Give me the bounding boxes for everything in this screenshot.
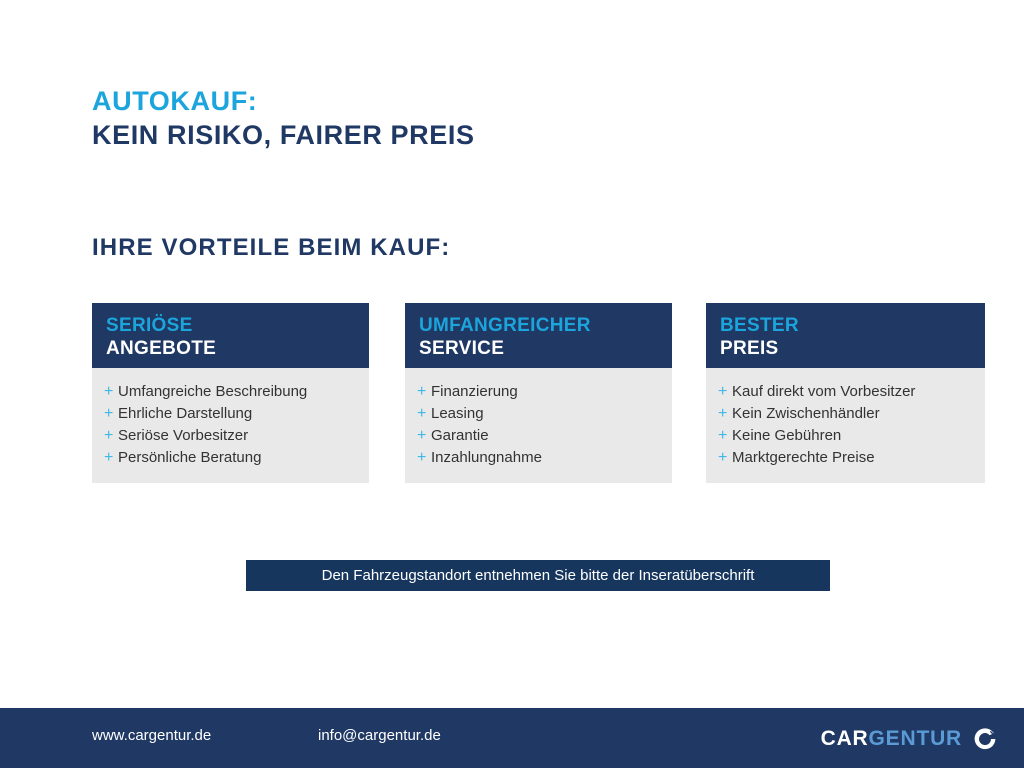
- feature-item: + Persönliche Beratung: [104, 447, 369, 469]
- cargentur-c-mark-icon: [972, 726, 998, 752]
- benefit-card-body: + Kauf direkt vom Vorbesitzer + Kein Zwi…: [706, 368, 985, 483]
- feature-label: Garantie: [431, 425, 489, 447]
- location-notice-banner: Den Fahrzeugstandort entnehmen Sie bitte…: [246, 560, 830, 591]
- plus-icon: +: [417, 381, 431, 403]
- logo-text-primary: CAR: [821, 727, 869, 751]
- feature-item: + Kauf direkt vom Vorbesitzer: [718, 381, 985, 403]
- feature-label: Kauf direkt vom Vorbesitzer: [732, 381, 915, 403]
- feature-item: + Inzahlungnahme: [417, 447, 672, 469]
- plus-icon: +: [718, 381, 732, 403]
- page-title-line-1: AUTOKAUF:: [92, 84, 475, 118]
- feature-label: Kein Zwischenhändler: [732, 403, 880, 425]
- feature-label: Leasing: [431, 403, 484, 425]
- benefit-card-umfangreicher-service: UMFANGREICHER SERVICE + Finanzierung + L…: [405, 303, 672, 483]
- feature-label: Persönliche Beratung: [118, 447, 261, 469]
- feature-item: + Leasing: [417, 403, 672, 425]
- benefit-card-header: BESTER PREIS: [706, 303, 985, 368]
- benefit-card-serioese-angebote: SERIÖSE ANGEBOTE + Umfangreiche Beschrei…: [92, 303, 369, 483]
- page-title: AUTOKAUF: KEIN RISIKO, FAIRER PREIS: [92, 84, 475, 152]
- feature-item: + Ehrliche Darstellung: [104, 403, 369, 425]
- plus-icon: +: [417, 447, 431, 469]
- plus-icon: +: [718, 425, 732, 447]
- benefits-card-group: SERIÖSE ANGEBOTE + Umfangreiche Beschrei…: [92, 303, 985, 478]
- feature-label: Ehrliche Darstellung: [118, 403, 252, 425]
- feature-label: Keine Gebühren: [732, 425, 841, 447]
- feature-item: + Finanzierung: [417, 381, 672, 403]
- feature-label: Seriöse Vorbesitzer: [118, 425, 248, 447]
- feature-item: + Kein Zwischenhändler: [718, 403, 985, 425]
- benefit-card-header-bottom: PREIS: [720, 337, 985, 360]
- feature-item: + Umfangreiche Beschreibung: [104, 381, 369, 403]
- cargentur-logo: CARGENTUR: [821, 726, 998, 752]
- plus-icon: +: [104, 403, 118, 425]
- feature-item: + Garantie: [417, 425, 672, 447]
- plus-icon: +: [417, 425, 431, 447]
- section-heading: IHRE VORTEILE BEIM KAUF:: [92, 234, 450, 262]
- plus-icon: +: [718, 447, 732, 469]
- feature-label: Inzahlungnahme: [431, 447, 542, 469]
- benefit-card-header-top: UMFANGREICHER: [419, 314, 672, 337]
- benefit-card-header: UMFANGREICHER SERVICE: [405, 303, 672, 368]
- slide-canvas: AUTOKAUF: KEIN RISIKO, FAIRER PREIS IHRE…: [0, 0, 1024, 768]
- footer-bar: www.cargentur.de info@cargentur.de CARGE…: [0, 708, 1024, 768]
- feature-item: + Marktgerechte Preise: [718, 447, 985, 469]
- benefit-card-header-top: SERIÖSE: [106, 314, 369, 337]
- feature-label: Finanzierung: [431, 381, 518, 403]
- page-title-line-2: KEIN RISIKO, FAIRER PREIS: [92, 118, 475, 152]
- feature-label: Marktgerechte Preise: [732, 447, 875, 469]
- plus-icon: +: [104, 381, 118, 403]
- benefit-card-body: + Finanzierung + Leasing + Garantie + In…: [405, 368, 672, 483]
- plus-icon: +: [417, 403, 431, 425]
- plus-icon: +: [104, 425, 118, 447]
- logo-text-secondary: GENTUR: [869, 727, 962, 751]
- plus-icon: +: [718, 403, 732, 425]
- footer-email-link[interactable]: info@cargentur.de: [318, 727, 441, 744]
- feature-item: + Keine Gebühren: [718, 425, 985, 447]
- feature-item: + Seriöse Vorbesitzer: [104, 425, 369, 447]
- footer-website-link[interactable]: www.cargentur.de: [92, 727, 211, 744]
- benefit-card-header-bottom: SERVICE: [419, 337, 672, 360]
- benefit-card-header: SERIÖSE ANGEBOTE: [92, 303, 369, 368]
- feature-label: Umfangreiche Beschreibung: [118, 381, 307, 403]
- benefit-card-header-bottom: ANGEBOTE: [106, 337, 369, 360]
- benefit-card-header-top: BESTER: [720, 314, 985, 337]
- plus-icon: +: [104, 447, 118, 469]
- benefit-card-body: + Umfangreiche Beschreibung + Ehrliche D…: [92, 368, 369, 483]
- benefit-card-bester-preis: BESTER PREIS + Kauf direkt vom Vorbesitz…: [706, 303, 985, 483]
